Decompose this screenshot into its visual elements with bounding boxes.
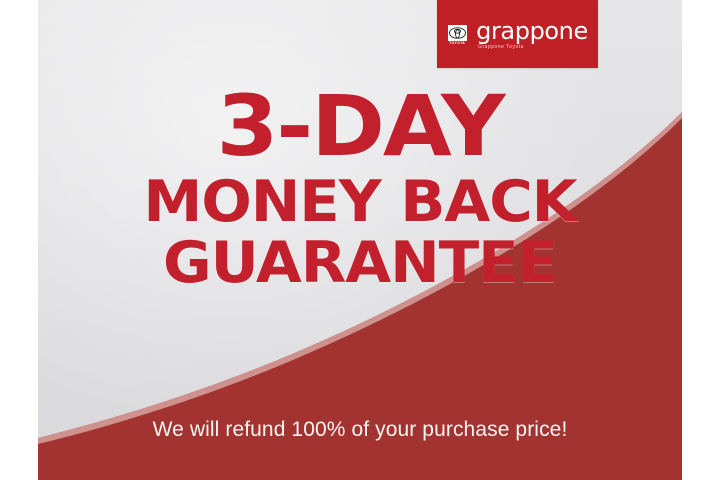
promo-banner: TOYOTA grappone Grappone Toyota 3-DAY MO… bbox=[0, 0, 720, 480]
grappone-logo-banner[interactable]: TOYOTA grappone Grappone Toyota bbox=[437, 0, 598, 68]
headline-block: 3-DAY MONEY BACK GUARANTEE bbox=[38, 84, 682, 292]
headline-line-1: 3-DAY bbox=[38, 84, 682, 168]
refund-tagline: We will refund 100% of your purchase pri… bbox=[38, 418, 682, 442]
toyota-emblem-icon bbox=[448, 25, 467, 41]
headline-line-3: GUARANTEE bbox=[38, 235, 682, 292]
banner-content-area: TOYOTA grappone Grappone Toyota 3-DAY MO… bbox=[38, 0, 682, 480]
grappone-wordmark-group: grappone Grappone Toyota bbox=[476, 21, 588, 50]
toyota-badge-caption: TOYOTA bbox=[449, 42, 465, 45]
grappone-logo-tagline: Grappone Toyota bbox=[478, 44, 524, 50]
grappone-wordmark: grappone bbox=[476, 21, 588, 43]
headline-line-2: MONEY BACK bbox=[38, 174, 682, 231]
toyota-badge: TOYOTA bbox=[447, 25, 467, 45]
